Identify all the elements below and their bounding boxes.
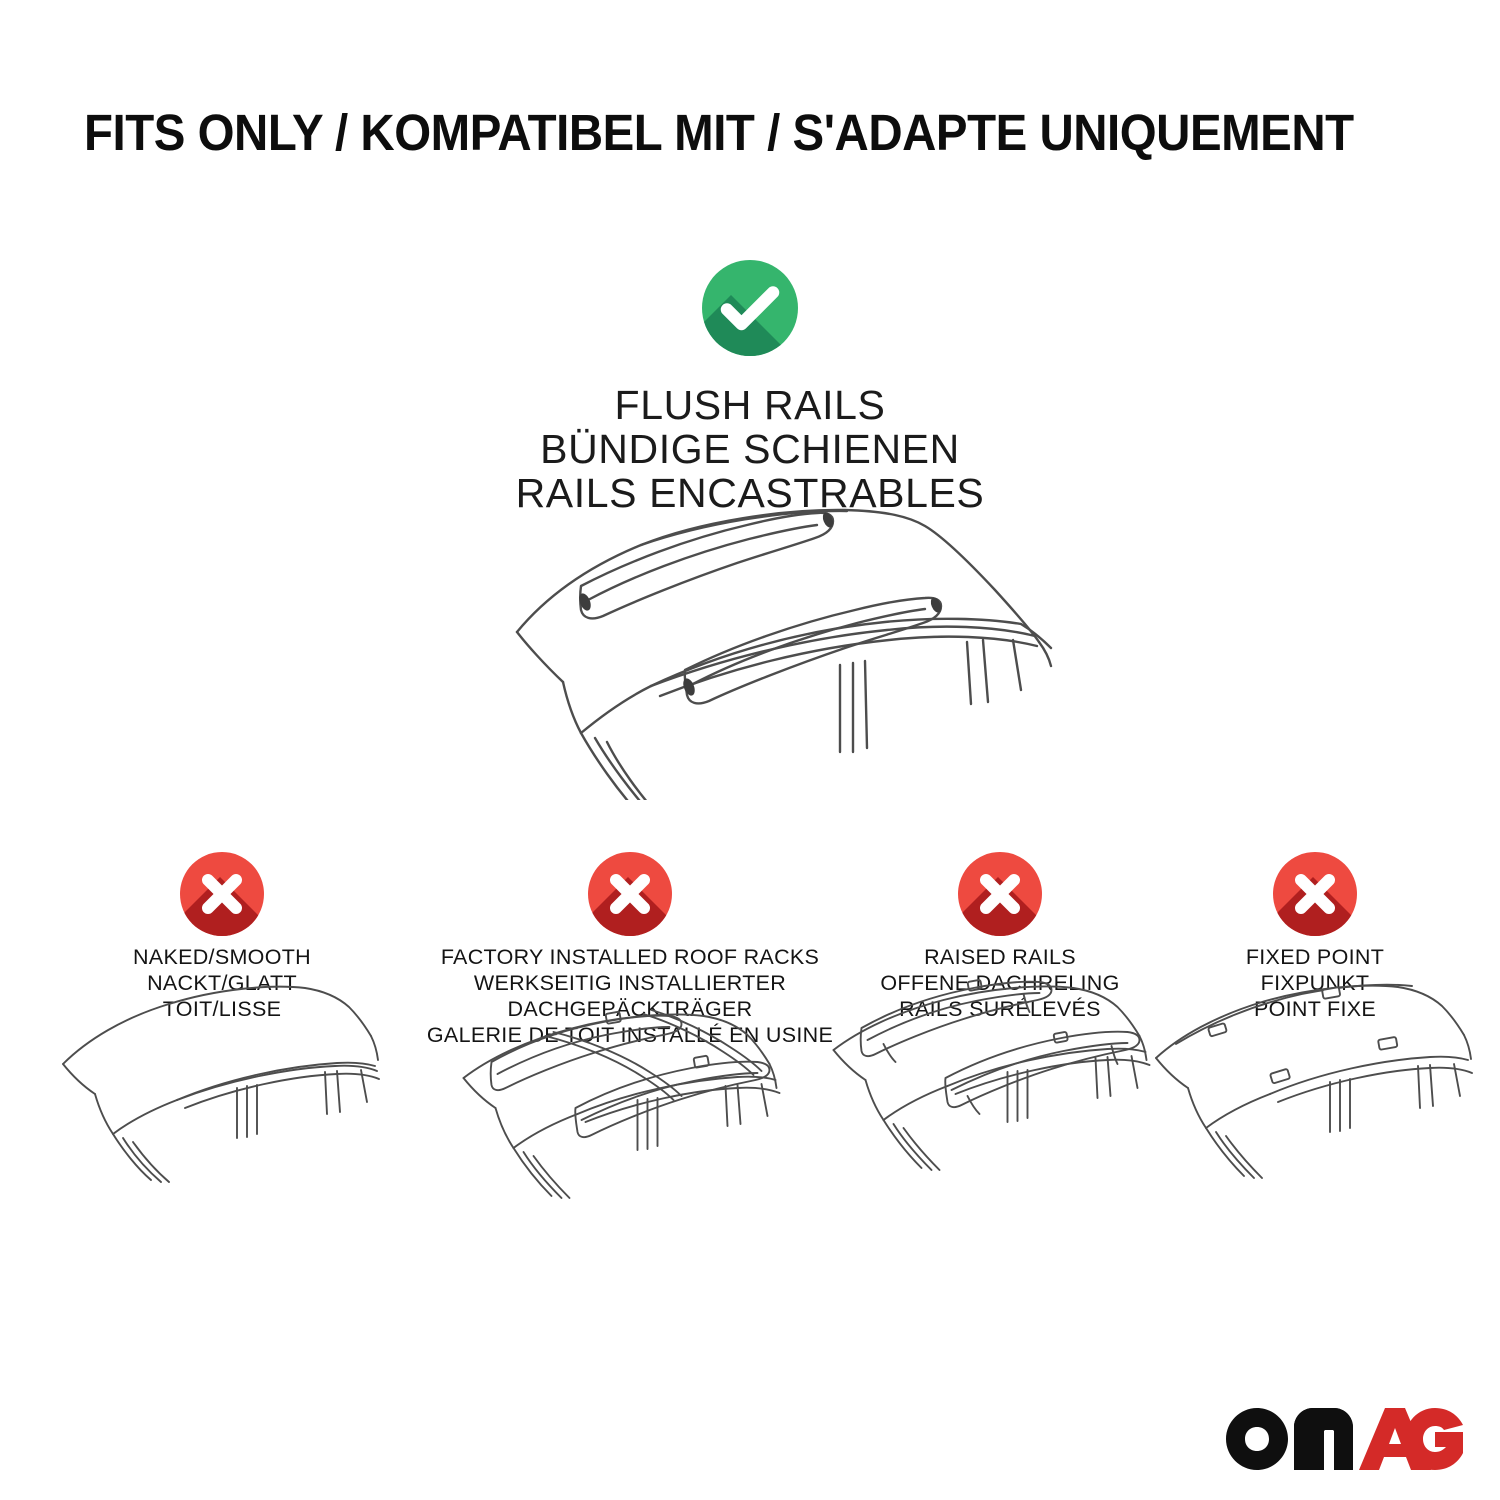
cross-mark-glyph: [1273, 852, 1357, 936]
car-roof-factory-roof-racks-illustration: [458, 1000, 803, 1215]
col-label-line: WERKSEITIG INSTALLIERTER: [400, 970, 860, 996]
fits-section: FLUSH RAILS BÜNDIGE SCHIENEN RAILS ENCAS…: [0, 260, 1500, 515]
col-badge-wrap: [840, 852, 1160, 944]
omac-logo: OMAC: [1222, 1404, 1464, 1474]
cross-mark-glyph: [958, 852, 1042, 936]
col-label-line: FIXED POINT: [1160, 944, 1470, 970]
page-title: FITS ONLY / KOMPATIBEL MIT / S'ADAPTE UN…: [84, 104, 1330, 162]
check-mark-glyph: [702, 260, 798, 356]
car-roof-naked-smooth-illustration: [57, 974, 387, 1184]
car-roof-fixed-point-illustration: [1150, 974, 1480, 1186]
cross-mark-glyph: [588, 852, 672, 936]
not-fits-section: NAKED/SMOOTH NACKT/GLATT TOIT/LISSE: [0, 852, 1500, 1292]
omac-logo-mark-dark: [1226, 1408, 1353, 1470]
red-cross-icon: [588, 852, 672, 936]
red-cross-icon: [1273, 852, 1357, 936]
cross-mark-glyph: [180, 852, 264, 936]
col-badge-wrap: [62, 852, 382, 944]
not-fits-column-raised-rails: RAISED RAILS OFFENE DACHRELING RAILS SUR…: [840, 852, 1160, 1022]
not-fits-column-factory-roof-racks: FACTORY INSTALLED ROOF RACKS WERKSEITIG …: [400, 852, 860, 1048]
car-roof-flush-rails-illustration: [455, 490, 1075, 800]
not-fits-column-fixed-point: FIXED POINT FIXPUNKT POINT FIXE: [1160, 852, 1470, 1022]
col-badge-wrap: [1160, 852, 1470, 944]
red-cross-icon: [180, 852, 264, 936]
fits-caption-line-en: FLUSH RAILS: [0, 383, 1500, 427]
col-badge-wrap: [400, 852, 860, 944]
red-cross-icon: [958, 852, 1042, 936]
col-label-line: RAISED RAILS: [840, 944, 1160, 970]
col-label-line: NAKED/SMOOTH: [62, 944, 382, 970]
col-label-line: FACTORY INSTALLED ROOF RACKS: [400, 944, 860, 970]
car-roof-raised-rails-illustration: [828, 974, 1173, 1186]
fits-caption-line-de: BÜNDIGE SCHIENEN: [0, 427, 1500, 471]
not-fits-column-naked-smooth: NAKED/SMOOTH NACKT/GLATT TOIT/LISSE: [62, 852, 382, 1022]
omac-logo-mark-red: [1359, 1404, 1464, 1474]
green-check-icon: [702, 260, 798, 356]
